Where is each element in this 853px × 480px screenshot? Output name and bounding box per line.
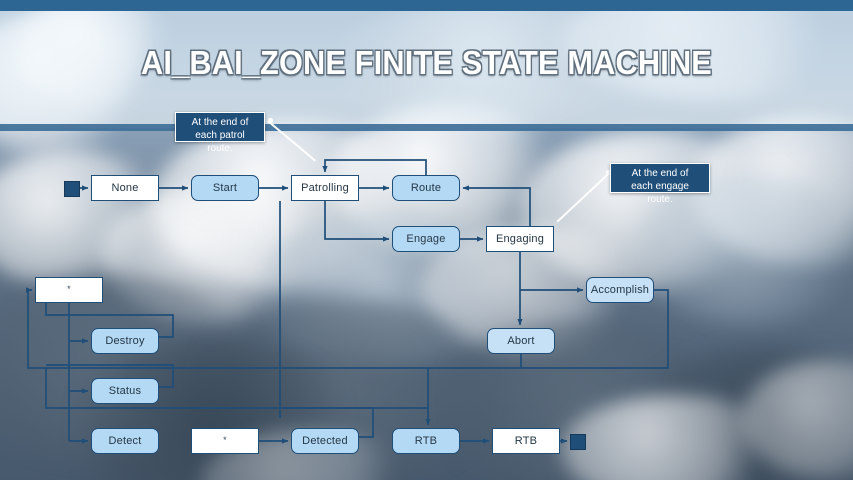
- callout-engage: At the end of each engage route.: [610, 163, 710, 193]
- state-node-destroy[interactable]: Destroy: [91, 328, 159, 354]
- state-label: Route: [411, 182, 441, 194]
- state-label: None: [111, 182, 138, 194]
- state-label: Start: [213, 182, 237, 194]
- state-node-patrolling[interactable]: Patrolling: [291, 175, 359, 201]
- end-marker: [570, 434, 586, 450]
- callout-line-1: At the end of: [617, 168, 703, 181]
- callout-line-2: each patrol route.: [182, 130, 258, 156]
- state-node-wildcard-left[interactable]: *: [35, 277, 103, 303]
- state-node-accomplish[interactable]: Accomplish: [586, 277, 654, 303]
- state-label: RTB: [415, 435, 437, 447]
- state-node-wildcard-mid[interactable]: *: [191, 428, 259, 454]
- state-label: RTB: [515, 435, 537, 447]
- state-node-route[interactable]: Route: [392, 175, 460, 201]
- slide-canvas: AI_BAI_ZONE FINITE STATE MACHINE: [0, 0, 853, 480]
- callout-patrol: At the end of each patrol route.: [175, 112, 265, 142]
- state-label: *: [67, 285, 71, 295]
- state-node-status[interactable]: Status: [91, 378, 159, 404]
- state-label: Accomplish: [591, 284, 649, 296]
- state-label: Detected: [302, 435, 348, 447]
- state-node-none[interactable]: None: [91, 175, 159, 201]
- state-node-abort[interactable]: Abort: [487, 328, 555, 354]
- state-node-detect[interactable]: Detect: [91, 428, 159, 454]
- callout-line-1: At the end of: [182, 117, 258, 130]
- start-marker: [64, 181, 80, 197]
- state-label: Engage: [406, 233, 445, 245]
- state-label: *: [223, 436, 227, 446]
- state-node-engage[interactable]: Engage: [392, 226, 460, 252]
- state-node-rtb-state[interactable]: RTB: [492, 428, 560, 454]
- callout-line-2: each engage route.: [617, 181, 703, 207]
- state-label: Patrolling: [301, 182, 349, 194]
- state-label: Status: [109, 385, 141, 397]
- state-label: Engaging: [496, 233, 544, 245]
- state-node-detected[interactable]: Detected: [291, 428, 359, 454]
- state-label: Destroy: [105, 335, 144, 347]
- state-label: Abort: [507, 335, 534, 347]
- state-node-start[interactable]: Start: [191, 175, 259, 201]
- state-node-rtb-trigger[interactable]: RTB: [392, 428, 460, 454]
- state-label: Detect: [109, 435, 142, 447]
- state-machine-diagram: None Start Patrolling Route Engage Engag…: [0, 0, 853, 480]
- state-node-engaging[interactable]: Engaging: [486, 226, 554, 252]
